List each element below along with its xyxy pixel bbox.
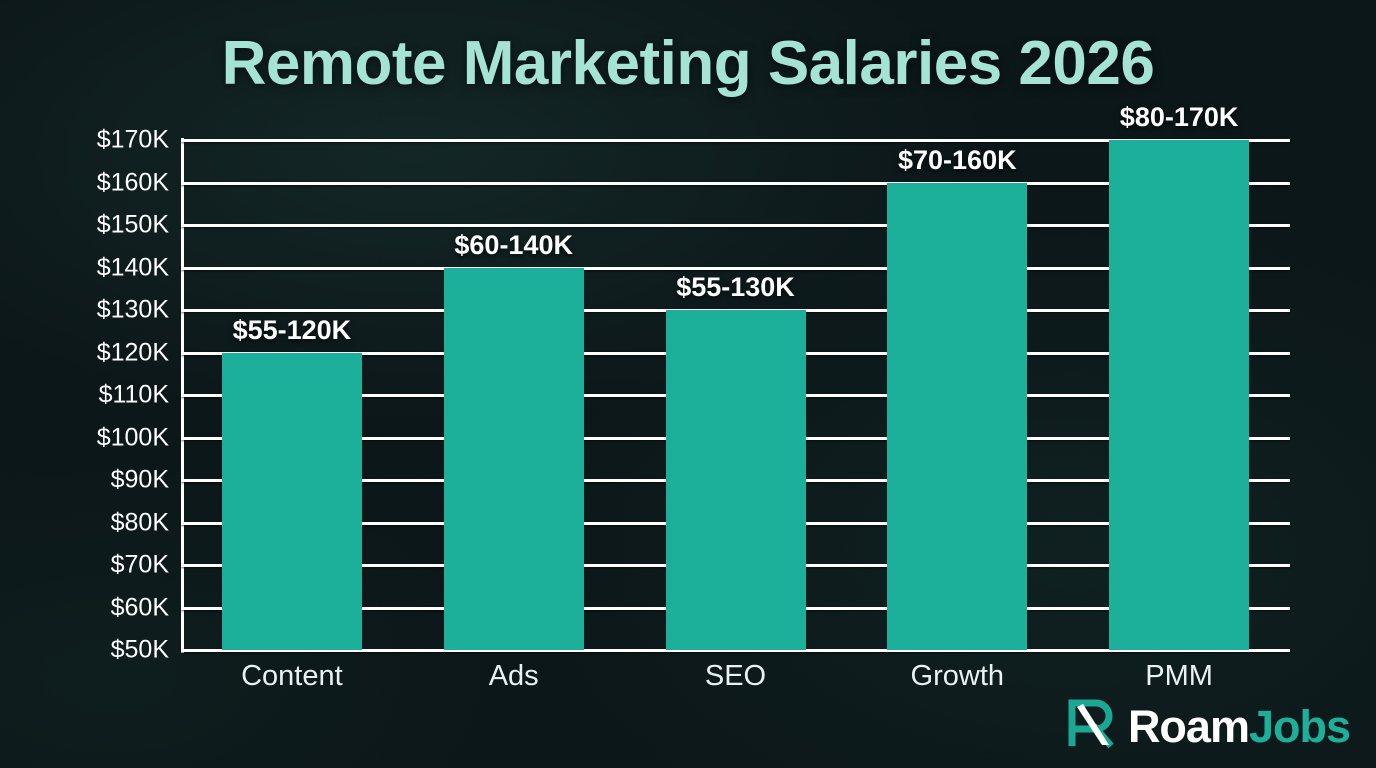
y-axis-tick-label: $90K [49,466,169,495]
y-axis-tick-label: $100K [49,423,169,452]
bar-ads[interactable] [444,268,584,651]
y-axis-tick-label: $60K [49,593,169,622]
bar-value-label: $70-160K [807,145,1107,176]
brand-logo[interactable]: RoamJobs [1066,699,1350,754]
bar-value-label: $55-120K [142,315,442,346]
brand-wordmark: RoamJobs [1128,704,1350,749]
y-axis-tick-label: $70K [49,551,169,580]
bar-pmm[interactable] [1109,140,1249,650]
brand-name-primary: Roam [1128,701,1249,752]
y-axis-tick-label: $110K [49,381,169,410]
bar-value-label: $55-130K [586,272,886,303]
brand-name-secondary: Jobs [1249,701,1350,752]
y-axis-tick-label: $170K [49,126,169,155]
chart-plot-area [181,140,1290,650]
y-axis-tick-label: $80K [49,508,169,537]
bar-value-label: $60-140K [364,230,664,261]
y-axis-tick-label: $150K [49,211,169,240]
y-axis-tick-label: $140K [49,253,169,282]
y-axis-tick-label: $160K [49,168,169,197]
roamjobs-r-mark-icon [1066,699,1118,754]
bar-growth[interactable] [887,183,1027,651]
x-axis-category-label: PMM [1029,660,1329,693]
page-title: Remote Marketing Salaries 2026 [0,28,1376,99]
bar-content[interactable] [222,353,362,651]
bar-value-label: $80-170K [1029,102,1329,133]
bar-seo[interactable] [666,310,806,650]
